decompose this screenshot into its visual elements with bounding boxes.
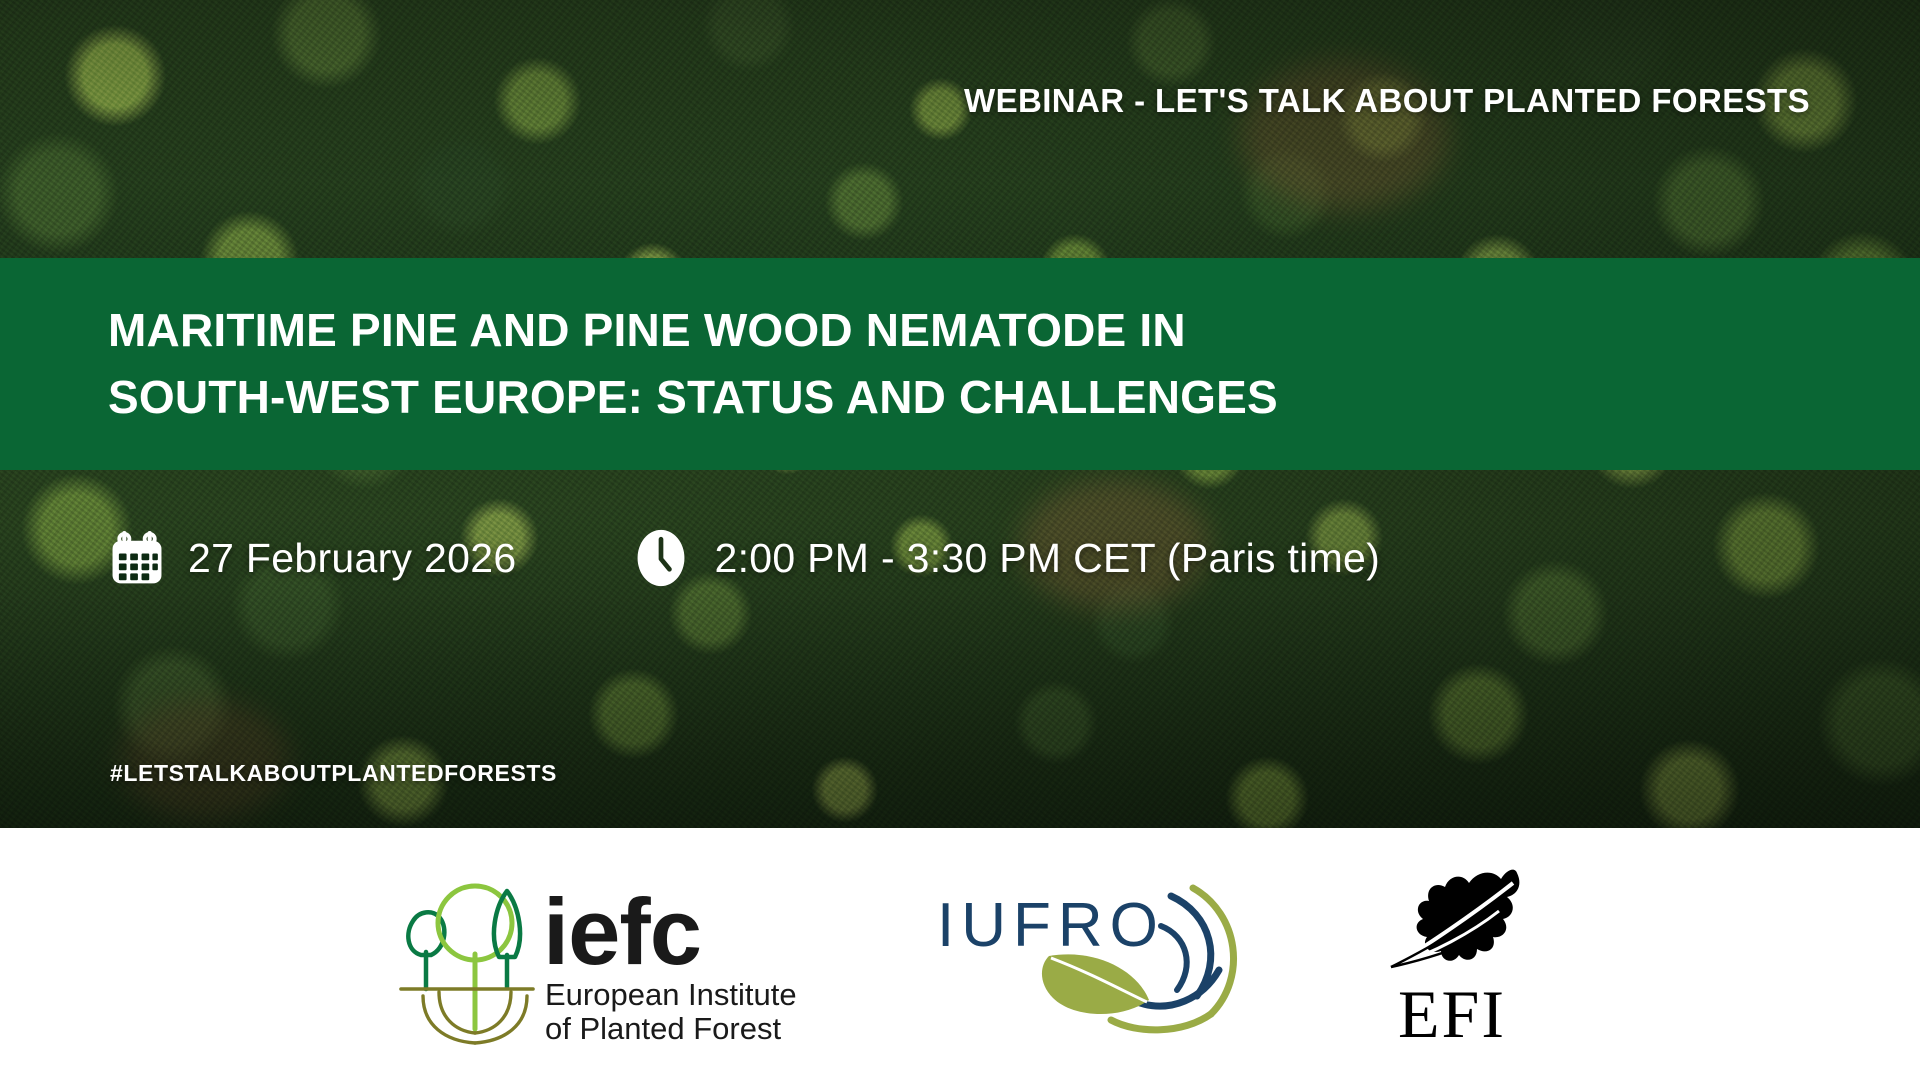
svg-text:iefc: iefc [543, 879, 701, 984]
sponsor-logo-footer: iefc European Institute of Planted Fores… [0, 828, 1920, 1080]
event-date-group: 27 February 2026 [108, 529, 516, 587]
calendar-icon [108, 529, 166, 587]
svg-text:of Planted Forest: of Planted Forest [545, 1011, 781, 1046]
event-time-text: 2:00 PM - 3:30 PM CET (Paris time) [714, 535, 1380, 582]
svg-text:EFI: EFI [1398, 976, 1506, 1049]
svg-text:IUFRO: IUFRO [937, 891, 1165, 960]
webinar-series-header: WEBINAR - LET'S TALK ABOUT PLANTED FORES… [0, 84, 1810, 117]
title-line-1: MARITIME PINE AND PINE WOOD NEMATODE IN [108, 297, 1920, 364]
svg-text:European Institute: European Institute [545, 977, 797, 1012]
iufro-logo: IUFRO [925, 874, 1255, 1034]
event-meta-row: 27 February 2026 2:00 PM - 3:30 PM CET (… [108, 528, 1380, 588]
iefc-logo: iefc European Institute of Planted Fores… [383, 859, 813, 1049]
efi-logo: EFI [1367, 859, 1537, 1049]
clock-icon [634, 528, 688, 588]
title-banner: MARITIME PINE AND PINE WOOD NEMATODE IN … [0, 258, 1920, 470]
event-date-text: 27 February 2026 [188, 535, 516, 582]
title-line-2: SOUTH-WEST EUROPE: STATUS AND CHALLENGES [108, 364, 1920, 431]
event-hashtag: #LETSTALKABOUTPLANTEDFORESTS [110, 760, 557, 787]
event-time-group: 2:00 PM - 3:30 PM CET (Paris time) [634, 528, 1380, 588]
webinar-poster: WEBINAR - LET'S TALK ABOUT PLANTED FORES… [0, 0, 1920, 1080]
